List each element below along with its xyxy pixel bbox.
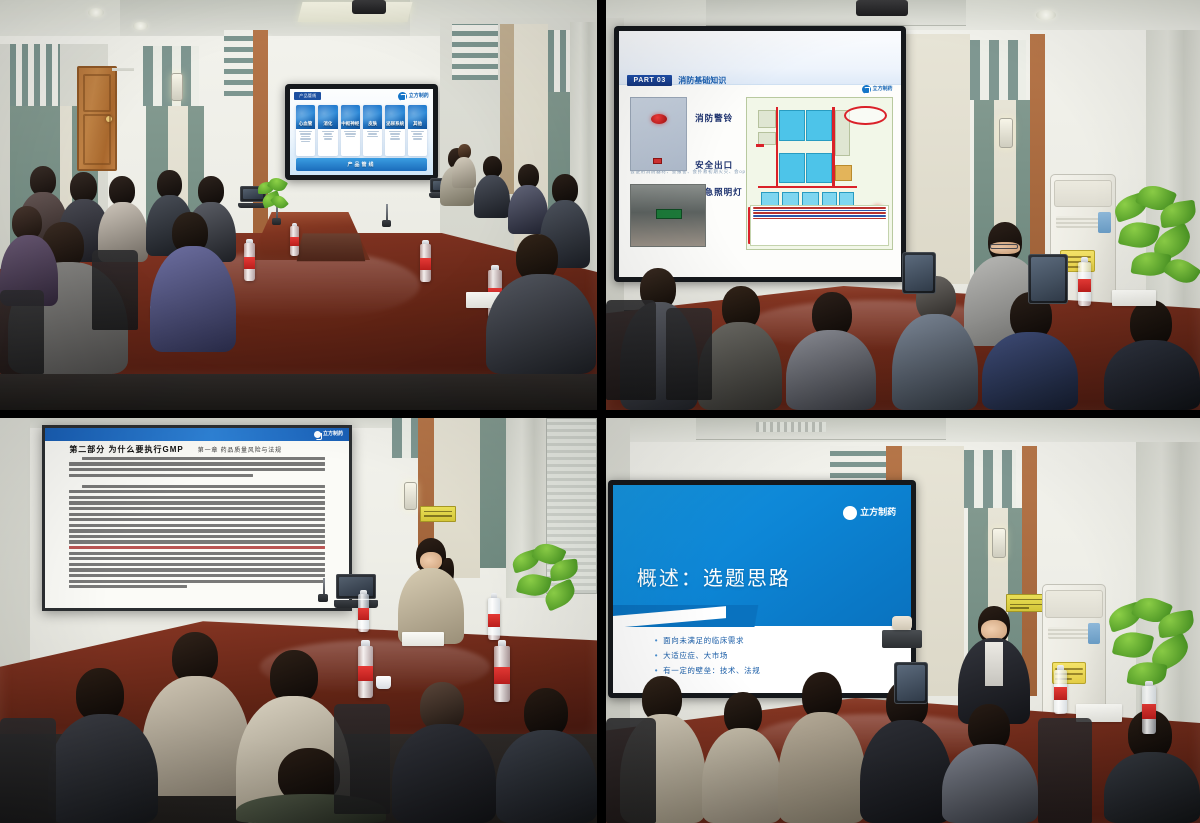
ceiling-speaker bbox=[352, 0, 386, 14]
room-wide: 产品管线 立方制药 心血管 消化 bbox=[0, 0, 597, 410]
wall-stripe-panel bbox=[970, 40, 1026, 100]
office-chair[interactable] bbox=[0, 290, 44, 374]
alarm-button-icon bbox=[653, 158, 662, 164]
attendee-foreground bbox=[1104, 300, 1200, 410]
side-wall-left bbox=[0, 418, 30, 698]
evacuation-map bbox=[746, 97, 893, 250]
wall-stripe-panel bbox=[392, 418, 418, 458]
conference-microphone[interactable] bbox=[318, 594, 328, 602]
water-bottle[interactable] bbox=[1142, 686, 1156, 734]
exit-sign-photo bbox=[630, 184, 706, 248]
gmp-heading-sub: 第一章 药品质量风险与法规 bbox=[198, 445, 282, 454]
water-bottle[interactable] bbox=[420, 244, 431, 282]
wall-stripe-panel bbox=[10, 44, 60, 106]
attendee-foreground bbox=[496, 688, 597, 823]
fire-label-exit: 安全出口 bbox=[695, 159, 733, 171]
pipeline-card-image: 消化 bbox=[318, 105, 338, 128]
slide-bullets: 面向未满足的临床需求 大适应症、大市场 有一定的壁垒：技术、法规 bbox=[655, 635, 887, 676]
attendee-foreground bbox=[942, 704, 1038, 823]
wall-sconce bbox=[992, 528, 1006, 558]
pipeline-cards: 心血管 消化 中枢神经 bbox=[296, 105, 428, 156]
room-blue-slide: 立方制药 概述：选题思路 面向未满足的临床需求 大适应症、大市场 有一定的壁垒：… bbox=[606, 418, 1200, 823]
alarm-bell-icon bbox=[651, 114, 667, 124]
map-legend bbox=[750, 205, 889, 246]
slide-header-tab: 产品管线 bbox=[294, 92, 321, 100]
attendee-foreground bbox=[48, 668, 158, 823]
pipeline-card-image: 皮肤 bbox=[363, 105, 383, 128]
conference-microphone[interactable] bbox=[382, 220, 391, 227]
pipeline-card-image: 泌尿系统 bbox=[385, 105, 405, 128]
ac-top-vent bbox=[1045, 590, 1102, 618]
wall-display-screen[interactable]: 立方制药 概述：选题思路 面向未满足的临床需求 大适应症、大市场 有一定的壁垒：… bbox=[613, 485, 911, 693]
water-bottle[interactable] bbox=[358, 646, 373, 698]
attendee-foreground bbox=[150, 212, 236, 352]
pipeline-card-image: 中枢神经 bbox=[341, 105, 361, 128]
ceiling-speaker bbox=[856, 0, 908, 16]
pipeline-card-image: 心血管 bbox=[296, 105, 316, 128]
presenter bbox=[452, 144, 476, 188]
wall-stripe-panel bbox=[964, 450, 1016, 508]
attendee-foreground bbox=[982, 292, 1078, 410]
fire-alarm-photo bbox=[630, 97, 686, 171]
room-gmp: 立方制药 第二部分 为什么要执行GMP 第一章 药品质量风险与法规 bbox=[0, 418, 597, 823]
pipeline-card-body bbox=[341, 129, 361, 156]
brand-logo-icon bbox=[862, 85, 871, 94]
panel-top-left: 产品管线 立方制药 心血管 消化 bbox=[0, 0, 597, 410]
gmp-body-text bbox=[69, 457, 324, 597]
wall-stripe-horizontal bbox=[452, 24, 498, 80]
pipeline-card-title: 皮肤 bbox=[368, 121, 377, 127]
slide-logo: 立方制药 bbox=[843, 506, 896, 520]
slide-part-badge: PART 03 bbox=[627, 75, 671, 86]
map-stamp bbox=[844, 106, 887, 126]
attendee-foreground bbox=[892, 276, 978, 410]
document-paper[interactable] bbox=[402, 632, 444, 646]
panel-top-right: PART 03 消防基础知识 会使用消防器材、会报警、会扑救初期火灾、会орга… bbox=[606, 0, 1200, 410]
attendee-foreground bbox=[778, 672, 866, 823]
wall-sconce bbox=[404, 482, 417, 510]
pipeline-card[interactable]: 其他 bbox=[408, 105, 428, 156]
table-cable-tray bbox=[297, 233, 366, 261]
pipeline-card-title: 其他 bbox=[413, 121, 422, 127]
pipeline-card-body bbox=[385, 129, 405, 156]
ac-top-vent bbox=[1054, 180, 1113, 207]
slide-title: 概述：选题思路 bbox=[637, 562, 791, 591]
pipeline-band: 产品管线 bbox=[296, 158, 428, 171]
brand-logo-icon bbox=[843, 506, 857, 520]
wall-display-frame: PART 03 消防基础知识 会使用消防器材、会报警、会扑救初期火灾、会орга… bbox=[614, 26, 906, 282]
brand-logo-text: 立方制药 bbox=[860, 508, 896, 517]
fire-label-alarm: 消防警铃 bbox=[695, 112, 733, 124]
door-frame-rail bbox=[112, 68, 134, 71]
document-paper[interactable] bbox=[1112, 290, 1156, 306]
panel-bottom-right: 立方制药 概述：选题思路 面向未满足的临床需求 大适应症、大市场 有一定的壁垒：… bbox=[606, 418, 1200, 823]
office-chair[interactable] bbox=[334, 704, 390, 814]
wall-teal-panel bbox=[480, 418, 506, 568]
ceiling-downlight bbox=[133, 22, 148, 30]
pipeline-card[interactable]: 消化 bbox=[318, 105, 338, 156]
water-bottle[interactable] bbox=[488, 598, 500, 640]
presenter-female bbox=[398, 538, 464, 644]
ceiling-downlight bbox=[1036, 10, 1056, 20]
slide-logo: 立方制药 bbox=[398, 92, 429, 101]
pipeline-card-title: 泌尿系统 bbox=[386, 121, 404, 127]
slide-topbar: 立方制药 bbox=[45, 428, 349, 441]
office-chair[interactable] bbox=[92, 250, 138, 330]
wall-safety-sign bbox=[420, 506, 456, 522]
desk-phone[interactable] bbox=[892, 616, 912, 630]
slide-bullet: 面向未满足的临床需求 bbox=[655, 635, 887, 646]
slide-fire-safety: PART 03 消防基础知识 会使用消防器材、会报警、会扑救初期火灾、会орга… bbox=[619, 31, 901, 277]
brand-logo-text: 立方制药 bbox=[323, 432, 343, 437]
ceiling-vent bbox=[756, 422, 826, 432]
pipeline-card-body bbox=[296, 129, 316, 156]
office-chair[interactable] bbox=[606, 718, 656, 823]
tablet-device[interactable] bbox=[902, 252, 936, 294]
potted-plant bbox=[510, 544, 580, 624]
wall-sconce bbox=[171, 73, 183, 101]
paper-cup[interactable] bbox=[376, 676, 391, 689]
projector-screen[interactable]: 立方制药 第二部分 为什么要执行GMP 第一章 药品质量风险与法规 bbox=[42, 425, 352, 611]
panel-bottom-left: 立方制药 第二部分 为什么要执行GMP 第一章 药品质量风险与法规 bbox=[0, 418, 597, 823]
slide-gmp-document: 立方制药 第二部分 为什么要执行GMP 第一章 药品质量风险与法规 bbox=[45, 428, 349, 608]
slide-heading: 第二部分 为什么要执行GMP 第一章 药品质量风险与法规 bbox=[69, 444, 282, 455]
pipeline-card-title: 中枢神经 bbox=[341, 121, 359, 127]
gmp-heading-main: 第二部分 为什么要执行GMP bbox=[69, 444, 183, 455]
av-control-box[interactable] bbox=[882, 630, 922, 648]
ceiling-downlight bbox=[88, 8, 104, 17]
tablet-device[interactable] bbox=[1028, 254, 1068, 304]
pipeline-band-label: 产品管线 bbox=[347, 161, 375, 168]
wall-stripe-panel bbox=[548, 30, 570, 92]
slide-logo: 立方制药 bbox=[862, 85, 893, 94]
exit-sign-icon bbox=[656, 209, 681, 219]
tablet-device[interactable] bbox=[894, 662, 928, 704]
water-bottle[interactable] bbox=[1078, 262, 1091, 306]
pipeline-card[interactable]: 皮肤 bbox=[363, 105, 383, 156]
laptop[interactable] bbox=[336, 574, 376, 608]
room-closeup: PART 03 消防基础知识 会使用消防器材、会报警、会扑救初期火灾、会орга… bbox=[606, 0, 1200, 410]
water-bottle[interactable] bbox=[358, 594, 369, 632]
wall-display-screen[interactable]: PART 03 消防基础知识 会使用消防器材、会报警、会扑救初期火灾、会орга… bbox=[619, 31, 901, 277]
pipeline-card-title: 心血管 bbox=[299, 121, 313, 127]
water-bottle[interactable] bbox=[290, 226, 299, 256]
attendee-foreground bbox=[786, 292, 876, 410]
brand-logo-icon bbox=[314, 431, 321, 438]
ceiling-recess bbox=[706, 0, 966, 26]
slide-product-pipeline: 产品管线 立方制药 心血管 消化 bbox=[290, 89, 433, 175]
pipeline-card-title: 消化 bbox=[323, 121, 332, 127]
slide-blue-title: 立方制药 概述：选题思路 面向未满足的临床需求 大适应症、大市场 有一定的壁垒：… bbox=[613, 485, 911, 693]
attendee-foreground bbox=[392, 682, 496, 823]
wall-display-frame: 产品管线 立方制药 心血管 消化 bbox=[285, 84, 438, 180]
brand-logo-text: 立方制药 bbox=[409, 94, 429, 99]
pipeline-card-image: 其他 bbox=[408, 105, 428, 128]
pipeline-card-body bbox=[318, 129, 338, 156]
potted-plant bbox=[1110, 186, 1200, 306]
water-bottle[interactable] bbox=[244, 243, 255, 281]
ac-brand-badge bbox=[1088, 623, 1100, 644]
pipeline-card[interactable]: 中枢神经 bbox=[341, 105, 361, 156]
wall-sconce bbox=[999, 118, 1013, 148]
attendee-foreground bbox=[142, 632, 250, 796]
wall-cream-panel bbox=[904, 34, 970, 284]
office-chair[interactable] bbox=[1038, 718, 1092, 823]
floor bbox=[0, 374, 597, 410]
pipeline-card[interactable]: 心血管 bbox=[296, 105, 316, 156]
pipeline-card-body bbox=[363, 129, 383, 156]
office-chair[interactable] bbox=[666, 308, 712, 400]
wall-display-screen[interactable]: 产品管线 立方制药 心血管 消化 bbox=[290, 89, 433, 175]
door-knob[interactable] bbox=[106, 116, 112, 122]
pipeline-card-body bbox=[408, 129, 428, 156]
water-bottle[interactable] bbox=[1054, 670, 1067, 714]
room-door[interactable] bbox=[77, 66, 117, 171]
attendee bbox=[474, 156, 510, 218]
attendee-foreground bbox=[486, 234, 596, 374]
wall-display-frame: 立方制药 概述：选题思路 面向未满足的临床需求 大适应症、大市场 有一定的壁垒：… bbox=[608, 480, 916, 698]
potted-plant bbox=[256, 178, 290, 222]
brand-logo-icon bbox=[398, 92, 407, 101]
pipeline-card[interactable]: 泌尿系统 bbox=[385, 105, 405, 156]
office-chair[interactable] bbox=[606, 300, 656, 400]
slide-bullet: 大适应症、大市场 bbox=[655, 650, 887, 661]
attendee-foreground bbox=[702, 692, 782, 823]
slide-part-title: 消防基础知识 bbox=[678, 75, 726, 86]
brand-logo-text: 立方制药 bbox=[873, 87, 893, 92]
photo-collage: 产品管线 立方制药 心血管 消化 bbox=[0, 0, 1200, 823]
office-chair[interactable] bbox=[0, 718, 56, 823]
